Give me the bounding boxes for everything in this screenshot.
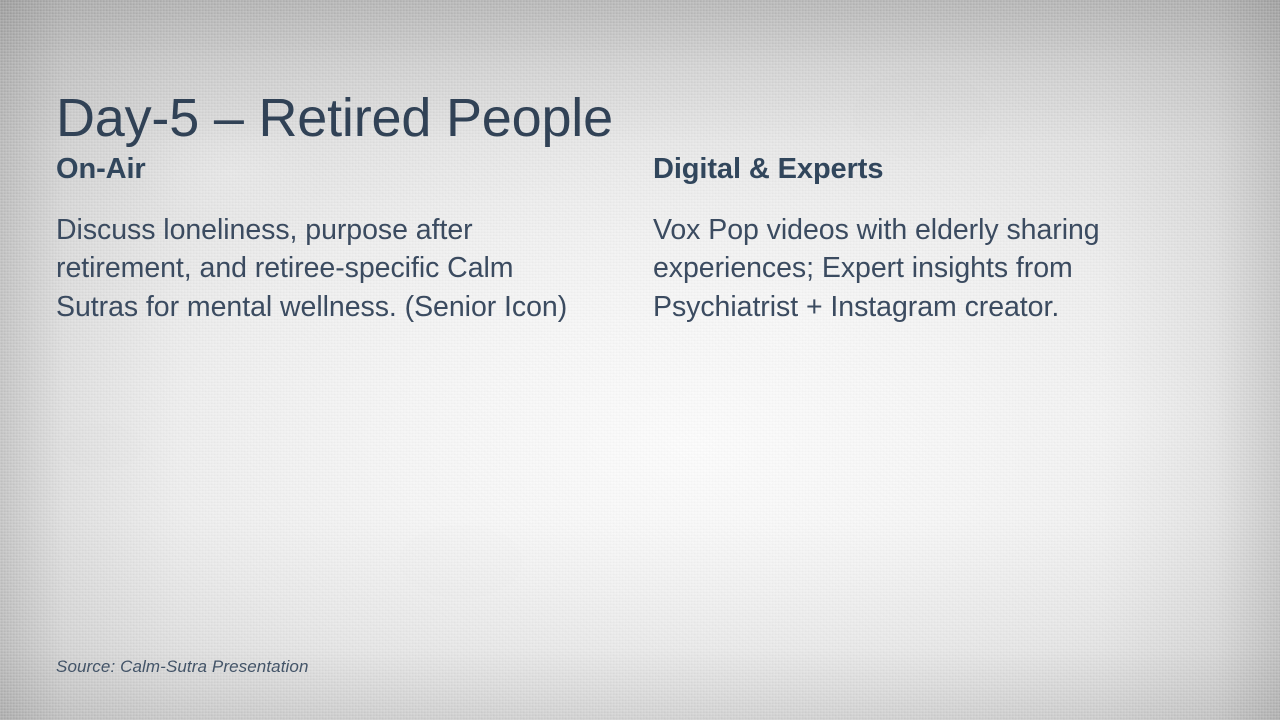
column-body-digital-experts: Vox Pop videos with elderly sharing expe…	[653, 211, 1123, 327]
presentation-slide: Day-5 – Retired People On-Air Discuss lo…	[0, 0, 1280, 720]
column-heading-on-air: On-Air	[56, 152, 593, 187]
slide-title: Day-5 – Retired People	[56, 88, 613, 148]
column-on-air: On-Air Discuss loneliness, purpose after…	[56, 152, 653, 326]
slide-content: Day-5 – Retired People On-Air Discuss lo…	[0, 0, 1280, 720]
column-heading-digital-experts: Digital & Experts	[653, 152, 1123, 187]
two-column-body: On-Air Discuss loneliness, purpose after…	[56, 152, 1226, 326]
source-note: Source: Calm-Sutra Presentation	[56, 657, 309, 677]
column-body-on-air: Discuss loneliness, purpose after retire…	[56, 211, 593, 327]
column-digital-experts: Digital & Experts Vox Pop videos with el…	[653, 152, 1123, 326]
